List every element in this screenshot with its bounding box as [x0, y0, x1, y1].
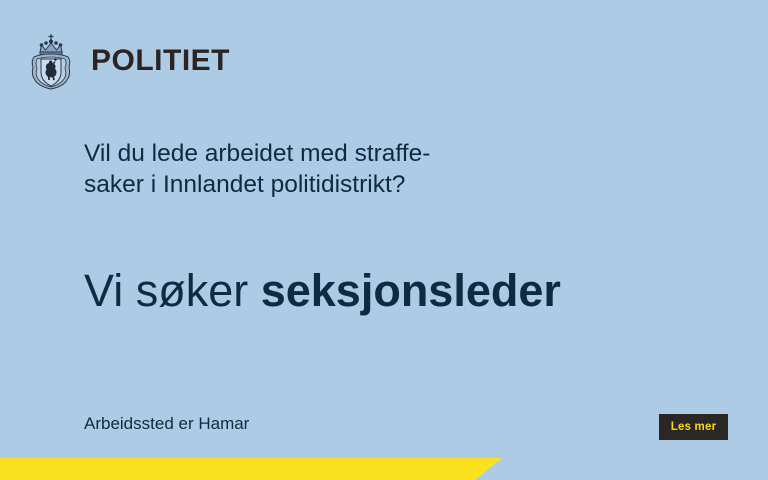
politiet-logo[interactable]: POLITIET — [25, 32, 230, 90]
politiet-wordmark: POLITIET — [91, 46, 230, 76]
norwegian-coat-of-arms-icon — [25, 32, 77, 90]
kicker-text: Vil du lede arbeidet med straffe- saker … — [84, 138, 644, 200]
read-more-button[interactable]: Les mer — [659, 414, 728, 440]
job-advertisement-banner: POLITIET Vil du lede arbeidet med straff… — [0, 0, 768, 480]
headline-lead: Vi søker — [84, 265, 261, 316]
headline: Vi søker seksjonsleder — [84, 265, 561, 317]
yellow-accent-band — [0, 458, 502, 480]
headline-role: seksjonsleder — [261, 265, 561, 316]
work-location-text: Arbeidssted er Hamar — [84, 412, 249, 436]
